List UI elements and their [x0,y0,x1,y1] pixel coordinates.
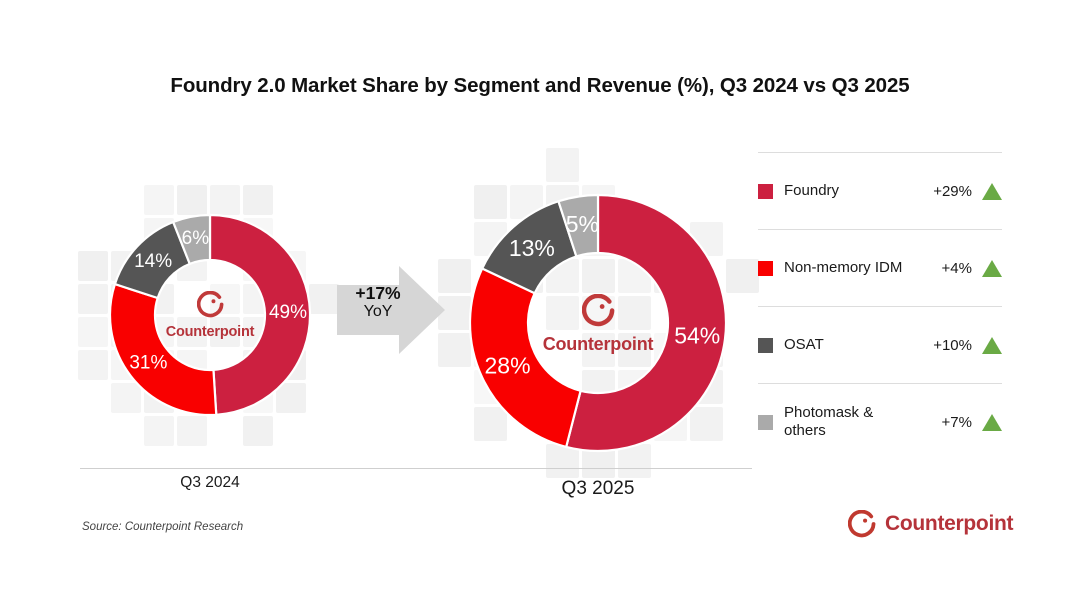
period-label-q3-2025: Q3 2025 [508,478,688,500]
trend-up-icon [982,414,1002,431]
legend-item-foundry[interactable]: Foundry +29% [758,152,1002,229]
counterpoint-logo-mark-icon [848,510,876,538]
slice-value-photomask-others: 5% [566,211,599,237]
slice-value-non-memory-idm: 31% [129,352,167,373]
legend-swatch-foundry [758,184,773,199]
yoy-unit: YoY [337,303,419,322]
slice-value-foundry: 54% [674,323,720,349]
source-note: Source: Counterpoint Research [82,521,243,533]
donut-slice-non-memory-idm[interactable] [110,284,216,415]
legend: Foundry +29% Non-memory IDM +4% OSAT +10… [758,152,1002,460]
footer-brand-logo: Counterpoint [848,510,1013,538]
donut-chart-q3-2025: 54%28%13%5% [470,195,726,451]
legend-swatch-non-memory-idm [758,261,773,276]
legend-delta-osat: +10% [918,337,972,354]
legend-item-osat[interactable]: OSAT +10% [758,306,1002,383]
slice-value-osat: 13% [509,235,555,261]
chart-canvas: Foundry 2.0 Market Share by Segment and … [0,0,1080,608]
yoy-value: +17% [337,283,419,303]
yoy-arrow-text: +17% YoY [337,283,419,322]
slice-value-osat: 14% [134,251,172,272]
footer-brand-label: Counterpoint [885,512,1013,536]
legend-delta-non-memory-idm: +4% [918,260,972,277]
baseline-divider [80,468,752,469]
legend-label-non-memory-idm: Non-memory IDM [784,259,918,277]
period-label-q3-2024: Q3 2024 [120,474,300,492]
donut-chart-q3-2024: 49%31%14%6% [106,211,314,419]
donut-svg-q3-2024: 49%31%14%6% [106,211,314,419]
legend-swatch-photomask-others [758,415,773,430]
slice-value-non-memory-idm: 28% [484,353,530,379]
slice-value-foundry: 49% [269,302,307,323]
legend-label-photomask-others: Photomask & others [784,404,918,439]
page-title: Foundry 2.0 Market Share by Segment and … [0,74,1080,98]
trend-up-icon [982,260,1002,277]
legend-item-photomask-others[interactable]: Photomask & others +7% [758,383,1002,460]
legend-delta-foundry: +29% [918,183,972,200]
donut-svg-q3-2025: 54%28%13%5% [470,195,726,451]
legend-label-foundry: Foundry [784,182,918,200]
trend-up-icon [982,183,1002,200]
legend-item-non-memory-idm[interactable]: Non-memory IDM +4% [758,229,1002,306]
trend-up-icon [982,337,1002,354]
slice-value-photomask-others: 6% [182,228,210,249]
legend-swatch-osat [758,338,773,353]
legend-delta-photomask-others: +7% [918,414,972,431]
legend-label-osat: OSAT [784,336,918,354]
yoy-growth-arrow: +17% YoY [337,266,445,354]
